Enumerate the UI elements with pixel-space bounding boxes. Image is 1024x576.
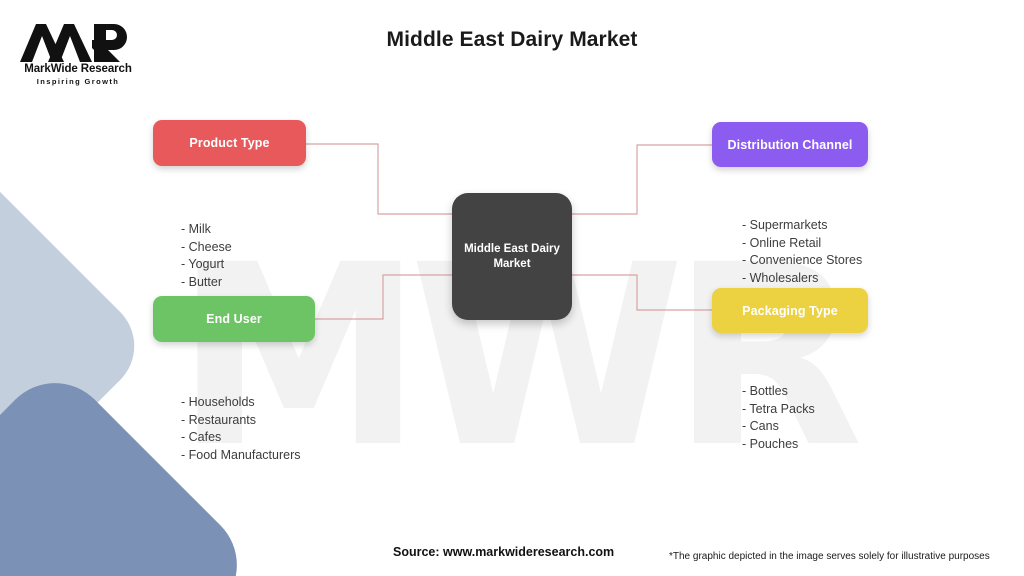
branch-header-end-user[interactable]: End User	[153, 296, 315, 342]
branch-title-packaging-type: Packaging Type	[742, 304, 838, 318]
list-item: - Food Manufacturers	[181, 447, 315, 465]
branch-items-product-type: - Milk - Cheese - Yogurt - Butter	[181, 221, 306, 291]
list-item: - Yogurt	[181, 256, 306, 274]
branch-items-end-user: - Households - Restaurants - Cafes - Foo…	[181, 394, 315, 464]
branch-title-product-type: Product Type	[189, 136, 269, 150]
list-item: - Bottles	[742, 383, 868, 401]
branch-packaging-type: Packaging Type - Bottles - Tetra Packs -…	[712, 288, 868, 453]
list-item: - Wholesalers	[742, 270, 868, 288]
infographic-canvas: MWR MarkWide Research Inspiring Growth M…	[0, 0, 1024, 576]
list-item: - Households	[181, 394, 315, 412]
list-item: - Milk	[181, 221, 306, 239]
list-item: - Cans	[742, 418, 868, 436]
branch-distribution-channel: Distribution Channel - Supermarkets - On…	[712, 122, 868, 287]
branch-product-type: Product Type - Milk - Cheese - Yogurt - …	[153, 120, 306, 291]
list-item: - Online Retail	[742, 235, 868, 253]
branch-header-packaging-type[interactable]: Packaging Type	[712, 288, 868, 333]
list-item: - Convenience Stores	[742, 252, 868, 270]
footer-source: Source: www.markwideresearch.com	[393, 545, 614, 559]
branch-title-end-user: End User	[206, 312, 262, 326]
branch-items-packaging-type: - Bottles - Tetra Packs - Cans - Pouches	[742, 383, 868, 453]
branch-items-distribution-channel: - Supermarkets - Online Retail - Conveni…	[742, 217, 868, 287]
branch-title-distribution-channel: Distribution Channel	[728, 138, 853, 152]
footer-disclaimer: *The graphic depicted in the image serve…	[669, 551, 990, 562]
list-item: - Butter	[181, 274, 306, 292]
branch-header-product-type[interactable]: Product Type	[153, 120, 306, 166]
center-node-label: Middle East Dairy Market	[452, 242, 572, 272]
center-node[interactable]: Middle East Dairy Market	[452, 193, 572, 320]
list-item: - Tetra Packs	[742, 401, 868, 419]
branch-end-user: End User - Households - Restaurants - Ca…	[153, 296, 315, 464]
list-item: - Pouches	[742, 436, 868, 454]
list-item: - Restaurants	[181, 412, 315, 430]
list-item: - Cheese	[181, 239, 306, 257]
list-item: - Cafes	[181, 429, 315, 447]
branch-header-distribution-channel[interactable]: Distribution Channel	[712, 122, 868, 167]
list-item: - Supermarkets	[742, 217, 868, 235]
